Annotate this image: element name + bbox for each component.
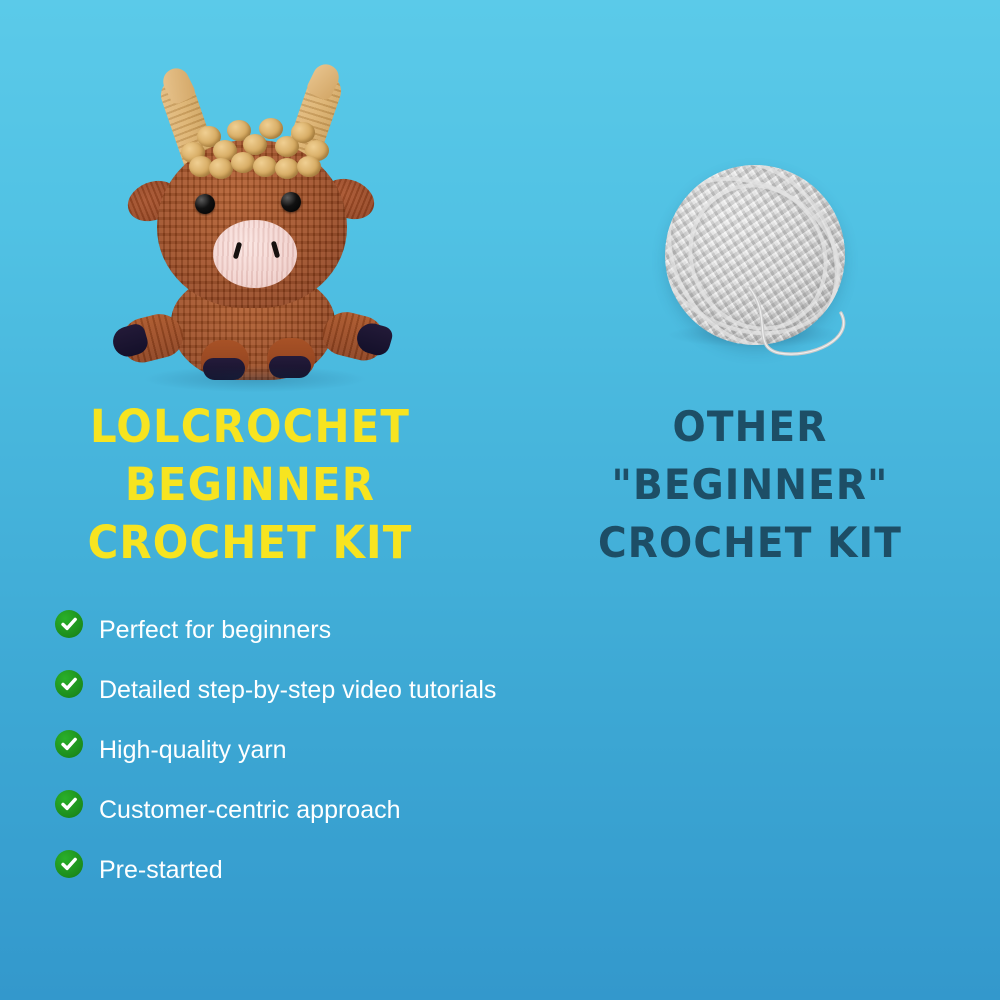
- heading-line-3: CROCHET KIT: [18, 514, 483, 572]
- list-item: Customer-centric approach: [55, 786, 525, 834]
- feature-list-pros: Perfect for beginners Detailed step-by-s…: [55, 606, 525, 906]
- heading-other-kit: OTHER "BEGINNER" CROCHET KIT: [518, 398, 983, 572]
- check-circle-icon: [55, 610, 83, 638]
- feature-text: Pre-started: [99, 846, 223, 894]
- column-lolcrochet: LOLCROCHET BEGINNER CROCHET KIT Perfect …: [0, 0, 500, 1000]
- crochet-cow-image: [105, 58, 400, 368]
- heading-line-2: "BEGINNER": [518, 456, 983, 514]
- list-item: Perfect for beginners: [55, 606, 525, 654]
- feature-text: High-quality yarn: [99, 726, 287, 774]
- check-circle-icon: [55, 790, 83, 818]
- cow-drop-shadow: [145, 366, 365, 392]
- comparison-infographic: LOLCROCHET BEGINNER CROCHET KIT Perfect …: [0, 0, 1000, 1000]
- cow-hair-fringe: [179, 116, 329, 174]
- yarn-ball-image: [655, 155, 875, 370]
- list-item: Detailed step-by-step video tutorials: [55, 666, 525, 714]
- heading-line-1: OTHER: [518, 398, 983, 456]
- list-item: Pre-started: [55, 846, 525, 894]
- hero-right: [500, 0, 1000, 385]
- feature-text: Perfect for beginners: [99, 606, 331, 654]
- heading-line-3: CROCHET KIT: [518, 514, 983, 572]
- check-circle-icon: [55, 730, 83, 758]
- cow-muzzle: [213, 220, 297, 288]
- comparison-columns: LOLCROCHET BEGINNER CROCHET KIT Perfect …: [0, 0, 1000, 1000]
- feature-text: Customer-centric approach: [99, 786, 401, 834]
- hero-left: [0, 0, 500, 385]
- feature-text: Detailed step-by-step video tutorials: [99, 666, 496, 714]
- yarn-loose-strand-icon: [733, 283, 861, 359]
- cow-eye-left-icon: [195, 194, 215, 214]
- heading-line-1: LOLCROCHET: [18, 398, 483, 456]
- heading-line-2: BEGINNER: [18, 456, 483, 514]
- heading-lolcrochet: LOLCROCHET BEGINNER CROCHET KIT: [18, 398, 483, 572]
- check-circle-icon: [55, 670, 83, 698]
- cow-eye-right-icon: [281, 192, 301, 212]
- list-item: High-quality yarn: [55, 726, 525, 774]
- check-circle-icon: [55, 850, 83, 878]
- column-other-kit: OTHER "BEGINNER" CROCHET KIT Printed ins…: [500, 0, 1000, 1000]
